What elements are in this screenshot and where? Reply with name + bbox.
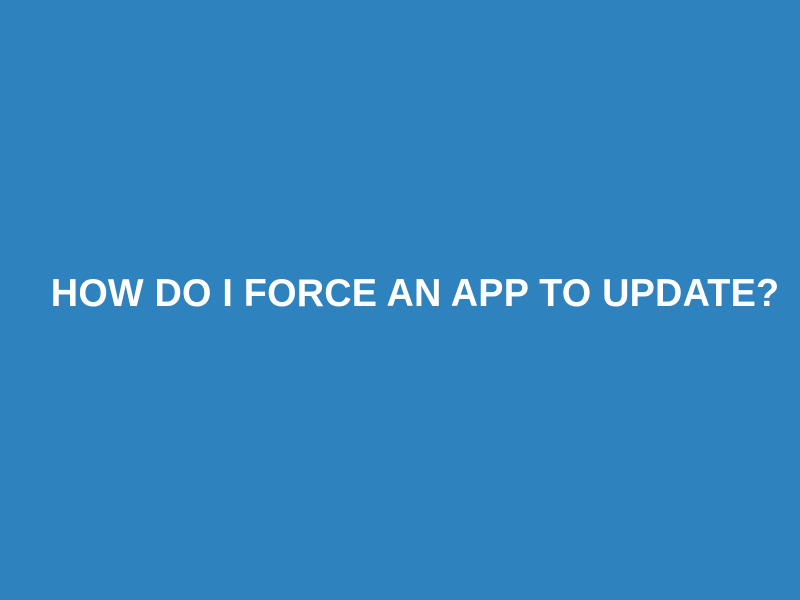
page-title: HOW DO I FORCE AN APP TO UPDATE? xyxy=(51,272,749,316)
title-card: HOW DO I FORCE AN APP TO UPDATE? xyxy=(0,0,800,600)
headline-container: HOW DO I FORCE AN APP TO UPDATE? xyxy=(0,272,800,316)
